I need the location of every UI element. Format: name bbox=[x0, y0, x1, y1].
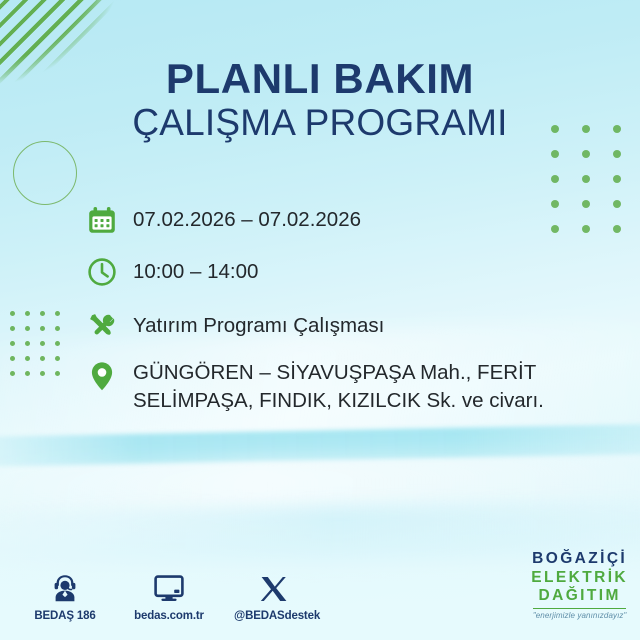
tools-icon bbox=[86, 306, 126, 346]
footer: BEDAŞ 186 bedas.com.tr bbox=[0, 548, 640, 624]
planned-maintenance-poster: PLANLI BAKIM ÇALIŞMA PROGRAMI bbox=[0, 0, 640, 640]
brand-tagline: "enerjimizle yanınızdayız" bbox=[531, 612, 628, 620]
info-list: 07.02.2026 – 07.02.2026 10:00 – 14:00 bbox=[86, 200, 626, 429]
contact-phone-label: BEDAŞ 186 bbox=[26, 610, 104, 622]
background-sheen-mid bbox=[0, 444, 640, 546]
info-row-location: GÜNGÖREN – SİYAVUŞPAŞA Mah., FERİT SELİM… bbox=[86, 356, 626, 415]
contact-website[interactable]: bedas.com.tr bbox=[130, 567, 208, 622]
contact-website-label: bedas.com.tr bbox=[130, 610, 208, 622]
contact-list: BEDAŞ 186 bedas.com.tr bbox=[26, 567, 312, 622]
date-range-text: 07.02.2026 – 07.02.2026 bbox=[126, 200, 361, 234]
title-line-1: PLANLI BAKIM bbox=[0, 58, 640, 101]
calendar-icon bbox=[86, 200, 126, 240]
info-row-date: 07.02.2026 – 07.02.2026 bbox=[86, 200, 626, 240]
location-pin-icon bbox=[86, 356, 126, 396]
dot-grid-left-decoration bbox=[10, 311, 70, 386]
page-title: PLANLI BAKIM ÇALIŞMA PROGRAMI bbox=[0, 58, 640, 144]
x-twitter-icon bbox=[234, 567, 312, 605]
info-row-time: 10:00 – 14:00 bbox=[86, 252, 626, 292]
brand-line-2: ELEKTRİK bbox=[531, 570, 628, 586]
clock-icon bbox=[86, 252, 126, 292]
brand-line-3: DAĞITIM bbox=[531, 588, 628, 604]
background-wave-line bbox=[0, 422, 640, 467]
info-row-work-type: Yatırım Programı Çalışması bbox=[86, 306, 626, 346]
brand-logo: BOĞAZİÇİ ELEKTRİK DAĞITIM "enerjimizle y… bbox=[531, 551, 628, 620]
contact-social[interactable]: @BEDASdestek bbox=[234, 567, 312, 622]
brand-divider bbox=[533, 608, 626, 609]
brand-line-1: BOĞAZİÇİ bbox=[531, 551, 628, 567]
contact-phone[interactable]: BEDAŞ 186 bbox=[26, 567, 104, 622]
headset-support-icon bbox=[26, 567, 104, 605]
work-type-text: Yatırım Programı Çalışması bbox=[126, 306, 384, 340]
title-line-2: ÇALIŞMA PROGRAMI bbox=[0, 101, 640, 145]
monitor-icon bbox=[130, 567, 208, 605]
location-text: GÜNGÖREN – SİYAVUŞPAŞA Mah., FERİT SELİM… bbox=[126, 356, 626, 415]
circle-outline-decoration bbox=[13, 141, 77, 205]
contact-social-label: @BEDASdestek bbox=[234, 610, 312, 622]
time-range-text: 10:00 – 14:00 bbox=[126, 252, 258, 286]
